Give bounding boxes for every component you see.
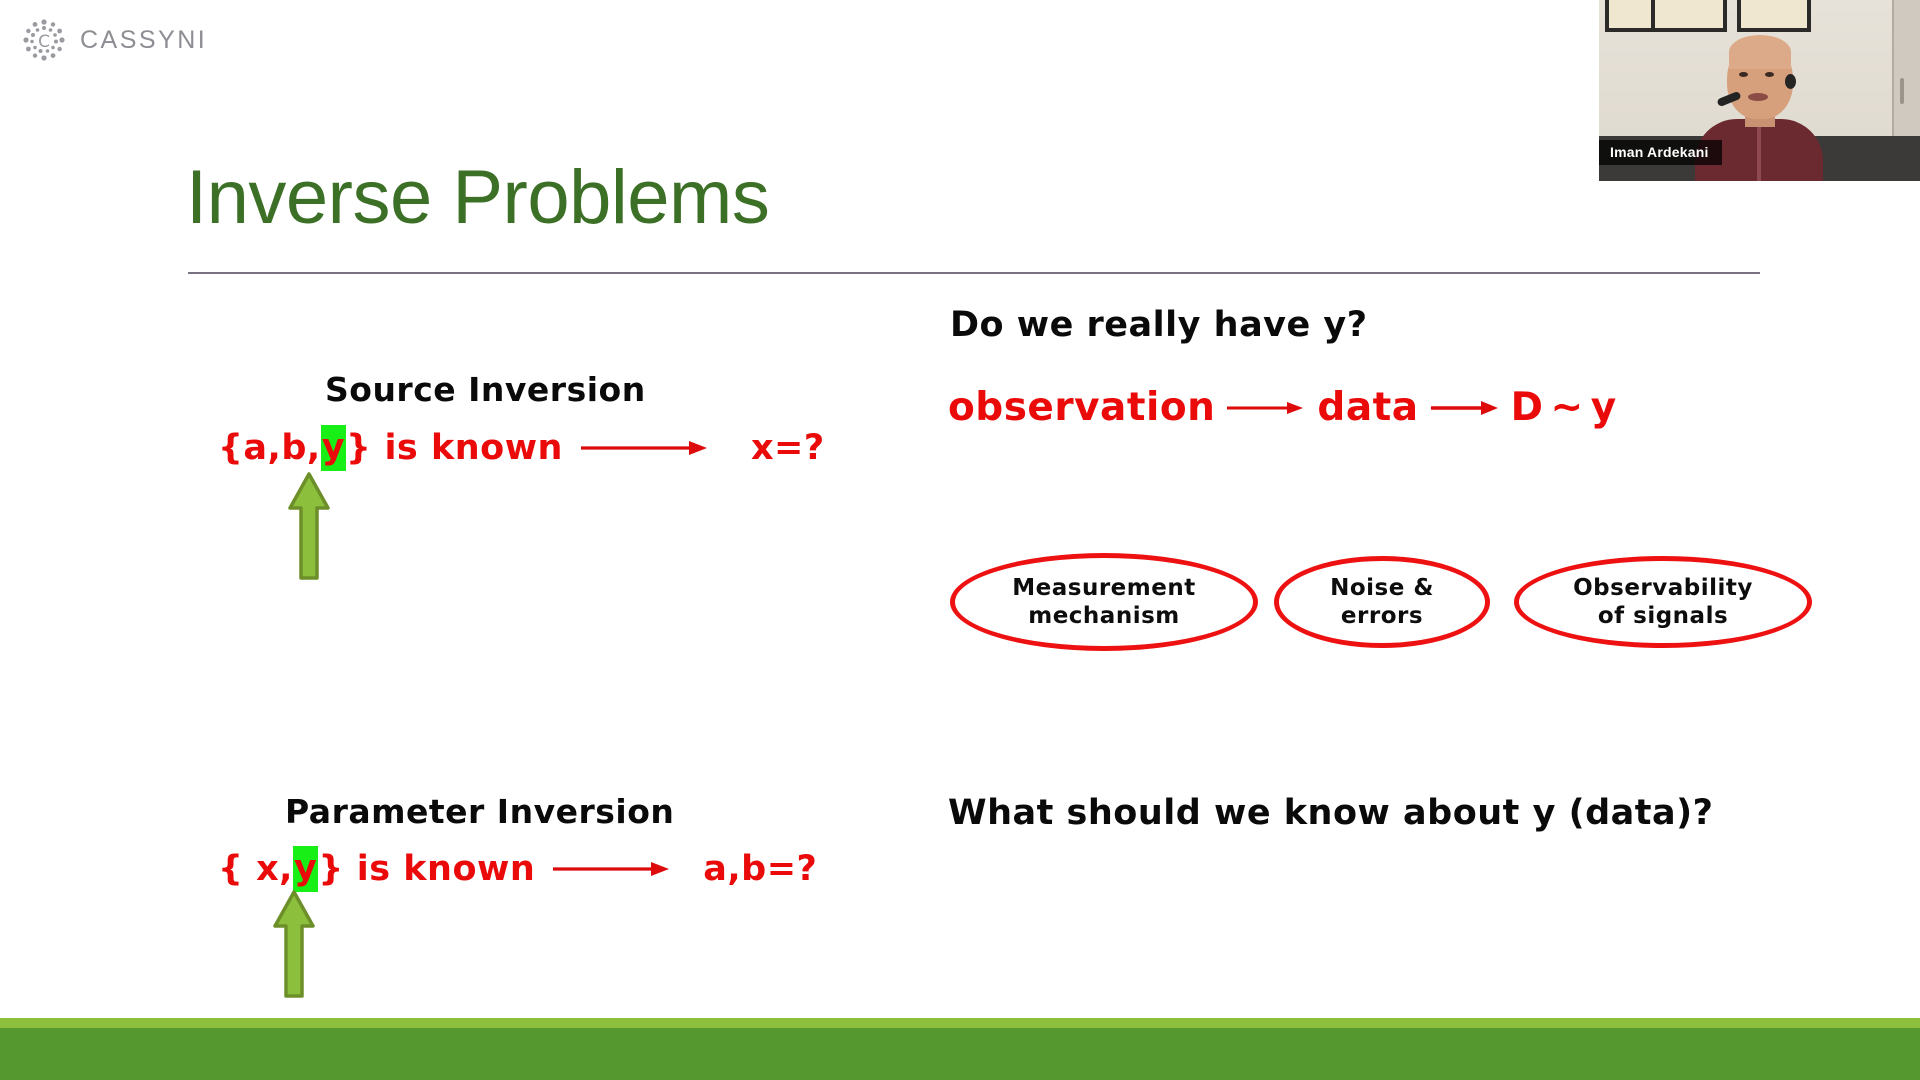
source-known-prefix: {a,b, xyxy=(218,428,321,468)
parameter-known-suffix: } xyxy=(318,849,343,889)
source-inversion-equation: {a,b,y} is known x=? xyxy=(218,425,825,471)
source-up-arrow-icon xyxy=(288,472,330,580)
wall-picture-frame-3 xyxy=(1737,0,1811,32)
flow-right-arrow-icon-1 xyxy=(1225,398,1307,418)
headset-earpiece-icon xyxy=(1785,74,1796,89)
source-known-suffix: } xyxy=(346,428,371,468)
considerations-ellipse-group: Measurement mechanism Noise & errors Obs… xyxy=(950,553,1812,651)
ellipse-1-line2: mechanism xyxy=(1028,603,1180,629)
source-known-highlight-y: y xyxy=(321,425,346,471)
parameter-inversion-equation: { x,y } is known a,b=? xyxy=(218,846,817,892)
parameter-right-arrow-icon xyxy=(551,858,673,880)
presentation-slide: C CASSYNI Inverse Problems Source Invers… xyxy=(0,0,1920,1080)
speaker-mouth xyxy=(1748,93,1768,101)
ellipse-3-line2: of signals xyxy=(1598,603,1728,629)
ellipse-measurement-mechanism: Measurement mechanism xyxy=(950,553,1258,651)
ellipse-3-line1: Observability xyxy=(1573,575,1753,601)
right-question-bottom: What should we know about y (data)? xyxy=(948,793,1713,833)
parameter-known-prefix: { x, xyxy=(218,849,293,889)
flow-step-data: data xyxy=(1317,385,1418,430)
parameter-up-arrow-icon xyxy=(273,890,315,998)
parameter-known-label: is known xyxy=(357,849,536,889)
flow-right-arrow-icon-2 xyxy=(1429,398,1501,418)
participant-name-label: Iman Ardekani xyxy=(1599,140,1722,165)
ellipse-observability-of-signals: Observability of signals xyxy=(1514,556,1812,648)
observation-data-flow: observation data D ~ y xyxy=(948,385,1617,430)
svg-text:C: C xyxy=(38,32,50,52)
source-result: x=? xyxy=(751,428,825,468)
flow-step-y: y xyxy=(1591,385,1617,430)
speaker-eye-right xyxy=(1765,72,1774,77)
cassyni-brand-logo: C CASSYNI xyxy=(22,18,207,62)
parameter-known-highlight-y: y xyxy=(293,846,318,892)
flow-step-observation: observation xyxy=(948,385,1215,430)
ellipse-2-line2: errors xyxy=(1341,603,1423,629)
source-inversion-heading: Source Inversion xyxy=(325,370,646,409)
source-right-arrow-icon xyxy=(579,437,711,459)
door-handle xyxy=(1900,78,1904,104)
slide-title: Inverse Problems xyxy=(186,160,769,236)
footer-bar-light xyxy=(0,1018,1920,1028)
flow-tilde: ~ xyxy=(1551,385,1584,430)
cassyni-circular-dots-logo-icon: C xyxy=(22,18,66,62)
ellipse-1-line1: Measurement xyxy=(1012,575,1195,601)
ellipse-2-line1: Noise & xyxy=(1330,575,1434,601)
ellipse-noise-errors: Noise & errors xyxy=(1274,556,1490,648)
right-question-top: Do we really have y? xyxy=(950,305,1368,345)
wall-picture-frame-2 xyxy=(1651,0,1727,32)
parameter-inversion-heading: Parameter Inversion xyxy=(285,792,674,831)
flow-step-D: D xyxy=(1511,385,1544,430)
title-divider xyxy=(188,272,1760,274)
parameter-result: a,b=? xyxy=(703,849,817,889)
footer-bar-dark xyxy=(0,1028,1920,1080)
webcam-video-tile[interactable]: Iman Ardekani xyxy=(1599,0,1920,181)
jacket-zipper xyxy=(1757,127,1761,181)
source-known-label: is known xyxy=(384,428,563,468)
cassyni-brand-text: CASSYNI xyxy=(80,26,207,55)
speaker-scalp xyxy=(1729,35,1791,69)
speaker-eye-left xyxy=(1739,72,1748,77)
